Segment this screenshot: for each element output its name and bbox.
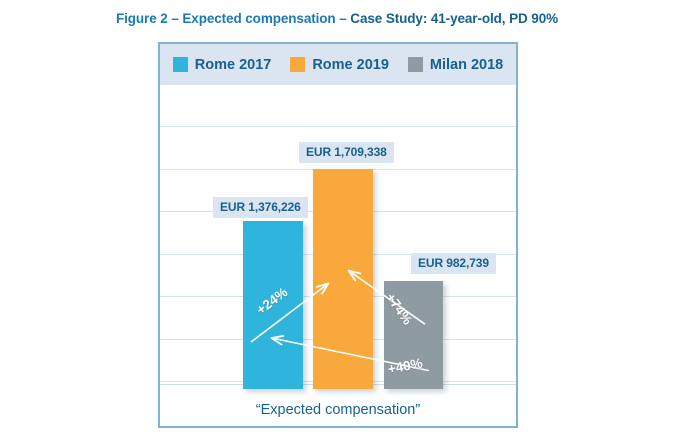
legend-swatch-milan-2018 bbox=[408, 57, 423, 72]
value-label-milan-2018: EUR 982,739 bbox=[411, 253, 496, 274]
figure-caption: Figure 2 – Expected compensation – Case … bbox=[0, 11, 674, 26]
legend-label-rome-2019: Rome 2019 bbox=[312, 57, 389, 73]
legend-swatch-rome-2017 bbox=[173, 57, 188, 72]
axis-title: “Expected compensation” bbox=[160, 402, 516, 418]
legend-label-rome-2017: Rome 2017 bbox=[195, 57, 272, 73]
legend-item-rome-2019[interactable]: Rome 2019 bbox=[290, 57, 389, 73]
figure-caption-part1: Figure 2 – Expected compensation – bbox=[116, 11, 350, 26]
plot-area: EUR 1,376,226 EUR 1,709,338 EUR 982,739 … bbox=[160, 85, 516, 426]
legend-swatch-rome-2019 bbox=[290, 57, 305, 72]
legend-item-milan-2018[interactable]: Milan 2018 bbox=[408, 57, 503, 73]
chart-frame: Rome 2017 Rome 2019 Milan 2018 EUR 1,376… bbox=[158, 42, 518, 428]
figure-caption-part2: Case Study: 41-year-old, PD 90% bbox=[350, 11, 558, 26]
value-label-rome-2019: EUR 1,709,338 bbox=[299, 142, 394, 163]
chart-legend: Rome 2017 Rome 2019 Milan 2018 bbox=[160, 44, 516, 85]
value-label-rome-2017: EUR 1,376,226 bbox=[213, 197, 308, 218]
legend-label-milan-2018: Milan 2018 bbox=[430, 57, 503, 73]
legend-item-rome-2017[interactable]: Rome 2017 bbox=[173, 57, 272, 73]
gridline bbox=[160, 126, 516, 127]
bar-rome-2019[interactable] bbox=[313, 169, 373, 389]
